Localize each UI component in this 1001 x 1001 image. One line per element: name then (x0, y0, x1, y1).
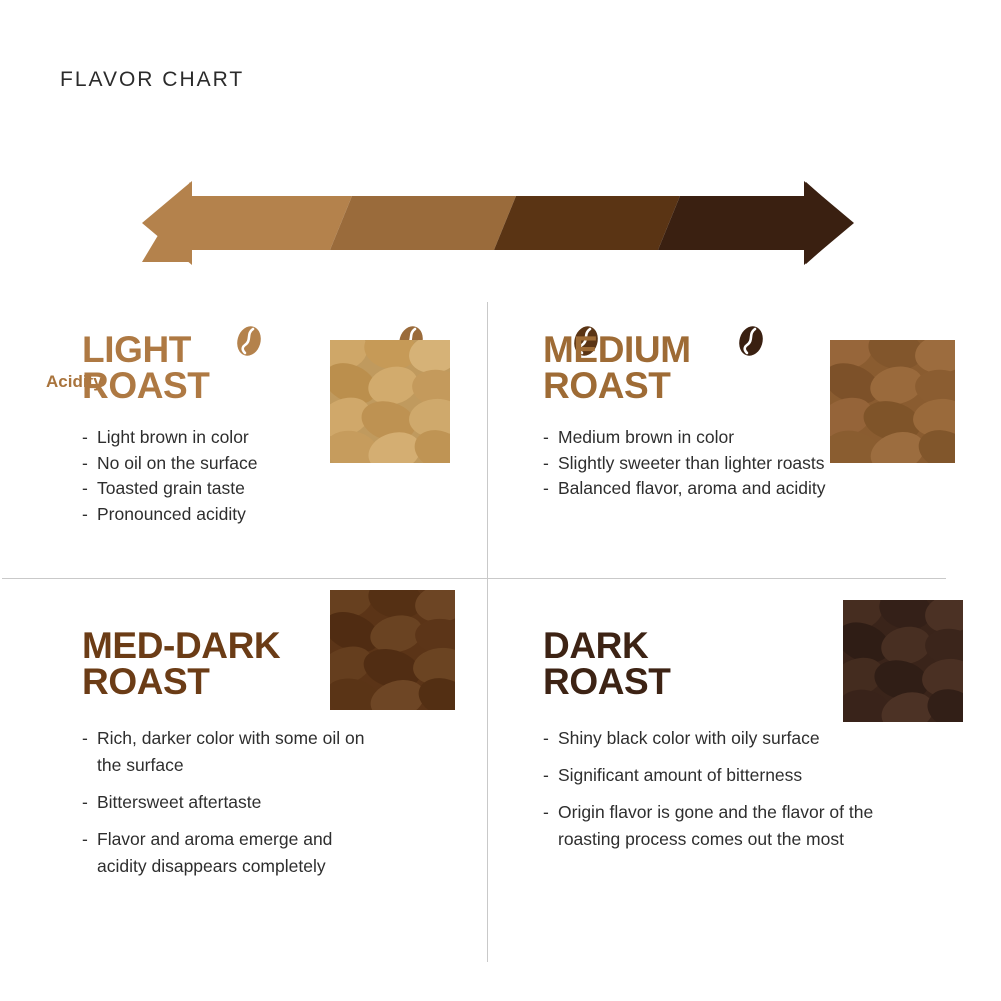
scale-segment-light-body (190, 196, 352, 250)
list-item: Toasted grain taste (82, 476, 482, 502)
light-roast-beans-photo (330, 340, 450, 463)
medium-roast-beans-photo (830, 340, 955, 463)
roast-bullets-med-dark: Rich, darker color with some oil on the … (82, 725, 382, 880)
list-item: Flavor and aroma emerge and acidity disa… (82, 826, 382, 880)
dark-roast-beans-photo (843, 600, 963, 722)
roast-scale-band: Acidity Bitterness LIGHT MEDIUM MED-DARK… (0, 160, 1001, 275)
scale-arrowhead-right (804, 181, 854, 265)
roast-scale-arrow (0, 160, 1001, 275)
list-item: Significant amount of bitterness (543, 762, 923, 789)
list-item: Pronounced acidity (82, 502, 482, 528)
quadrant-divider-vertical (487, 302, 488, 962)
list-item: Origin flavor is gone and the flavor of … (543, 799, 923, 853)
scale-segment-meddark-shape (494, 196, 680, 250)
scale-segment-medium-shape (330, 196, 516, 250)
med-dark-roast-beans-photo (330, 590, 455, 710)
roast-bullets-dark: Shiny black color with oily surface Sign… (543, 725, 923, 853)
list-item: Rich, darker color with some oil on the … (82, 725, 382, 779)
quadrant-divider-horizontal (2, 578, 946, 579)
list-item: Shiny black color with oily surface (543, 725, 923, 752)
page-title: FLAVOR CHART (60, 68, 244, 92)
list-item: Balanced flavor, aroma and acidity (543, 476, 963, 502)
list-item: Bittersweet aftertaste (82, 789, 382, 816)
